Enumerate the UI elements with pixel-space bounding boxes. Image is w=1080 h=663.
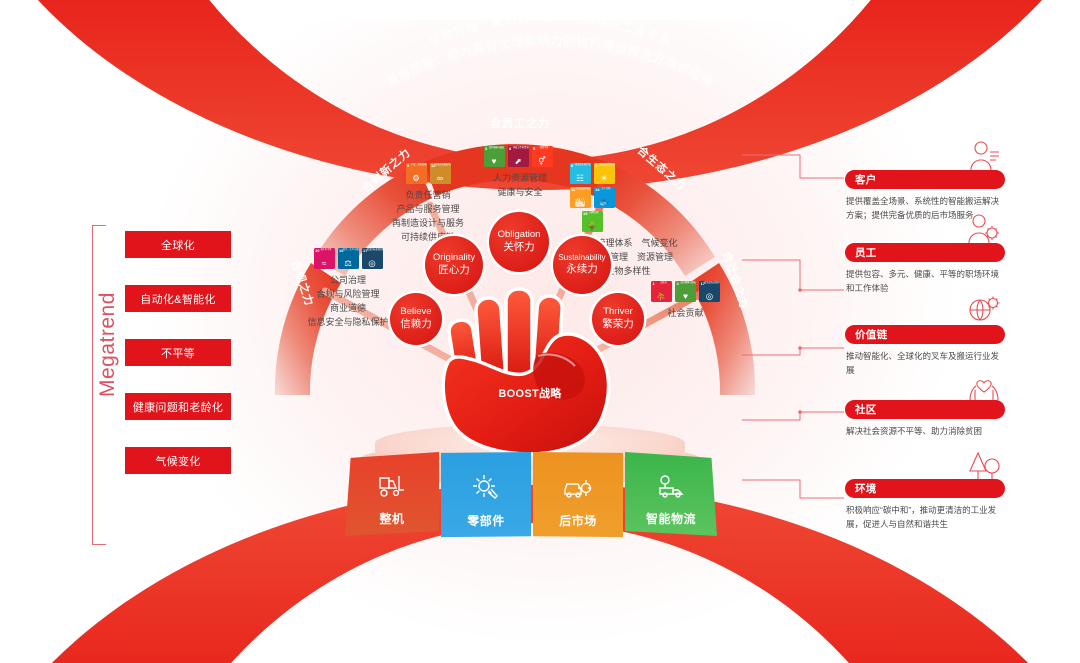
segment-label: 整机	[379, 510, 404, 527]
sdg-icon-9: 9产业、创新和基础设施⚙	[406, 163, 427, 184]
smart-truck-icon	[656, 474, 686, 502]
fist-icon	[430, 258, 630, 458]
segment-logistics[interactable]: 智能物流	[625, 452, 717, 536]
forklift-icon	[377, 474, 407, 502]
sdg-icon-5: 5性别平等⚥	[532, 146, 553, 167]
core-circle-en: Obligation	[498, 229, 541, 241]
sdg-row-society: 1无贫穷⛹3良好健康与福祉♥17促进目标实现的伙伴关系◎	[643, 281, 728, 302]
sdg-icon-6: 6清洁饮水和卫生设施☵	[570, 163, 591, 184]
arc-label-employee: 合员工之力	[490, 115, 550, 131]
sector-society: 1无贫穷⛹3良好健康与福祉♥17促进目标实现的伙伴关系◎ 社会贡献	[643, 281, 728, 321]
stakeholder-title[interactable]: 环境	[845, 479, 1005, 498]
segment-label: 零部件	[467, 512, 505, 529]
sector-line: 社会贡献	[643, 307, 728, 321]
infographic-canvas: 使命目标：聚合力，提升可持续的工业未来 发展愿景：成为具有全球影响力的物料搬运解…	[0, 0, 1080, 663]
segment-machine[interactable]: 整机	[345, 452, 439, 536]
sdg-icon-10: 10减少不平等≈	[314, 248, 335, 269]
mission-vision-block: 使命目标：聚合力，提升可持续的工业未来 发展愿景：成为具有全球影响力的物料搬运解…	[300, 35, 800, 145]
segment-label: 后市场	[559, 512, 597, 529]
stakeholder-body: 提供包容、多元、健康、平等的职场环境和工作体验	[845, 268, 1005, 296]
sdg-icon-8: 8体面工作和经济增长⬈	[508, 146, 529, 167]
stakeholder-connectors	[740, 150, 860, 550]
megatrend-item-climate-change[interactable]: 气候变化	[125, 447, 231, 474]
sdg-icon-1: 1无贫穷⛹	[651, 281, 672, 302]
sdg-icon-12: 12负责任消费和生产∞	[430, 163, 451, 184]
sector-line: 健康与安全	[458, 186, 582, 200]
segment-parts[interactable]: 零部件	[441, 452, 531, 538]
tree-leaf-icon	[967, 449, 1001, 481]
stakeholder-title[interactable]: 社区	[845, 400, 1005, 419]
sdg-icon-16: 16和平、正义与强大机构⚖	[338, 248, 359, 269]
stakeholder-body: 积极响应“碳中和”，推动更清洁的工业发展，促进人与自然和谐共生	[845, 504, 1005, 532]
business-segments: 整机 零部件 后市场	[345, 452, 717, 552]
sector-line: 产品与服务管理	[368, 203, 488, 217]
gear-wrench-icon	[472, 474, 500, 504]
megatrend-title: Megatrend	[96, 297, 120, 397]
stakeholder-title[interactable]: 客户	[845, 170, 1005, 189]
sector-employee: 3良好健康与福祉♥8体面工作和经济增长⬈5性别平等⚥ 人力资源管理 健康与安全	[458, 146, 582, 200]
segment-label: 智能物流	[646, 510, 696, 527]
car-service-icon	[563, 476, 593, 504]
sdg-icon-11: 11可持续城市和社区🏙	[570, 187, 591, 208]
customer-person-icon	[967, 140, 1001, 172]
segment-aftermarket[interactable]: 后市场	[533, 452, 623, 538]
stakeholder-title[interactable]: 价值链	[845, 325, 1005, 344]
sdg-icon-15: 15陆地生物🌳	[582, 211, 603, 232]
megatrend-item-inequality[interactable]: 不平等	[125, 339, 231, 366]
sdg-row-ecology: 6清洁饮水和卫生设施☵7经济适用的清洁能源☀11可持续城市和社区🏙14水下生物🐟…	[567, 163, 617, 232]
sdg-icon-7: 7经济适用的清洁能源☀	[594, 163, 615, 184]
sector-line: 人力资源管理	[458, 172, 582, 186]
sdg-row-employee: 3良好健康与福祉♥8体面工作和经济增长⬈5性别平等⚥	[458, 146, 578, 167]
sdg-icon-17: 17促进目标实现的伙伴关系◎	[362, 248, 383, 269]
stakeholder-environment: 环境 积极响应“碳中和”，推动更清洁的工业发展，促进人与自然和谐共生	[845, 479, 1005, 532]
stakeholder-employee: 员工 提供包容、多元、健康、平等的职场环境和工作体验	[845, 243, 1005, 296]
stakeholder-body: 解决社会资源不平等、助力消除贫困	[845, 425, 1005, 439]
boost-strategy-label: BOOST战略	[430, 385, 630, 401]
core-circle-cn: 关怀力	[503, 241, 535, 255]
sector-line: 再制造设计与服务	[368, 217, 488, 231]
sdg-icon-3: 3良好健康与福祉♥	[675, 281, 696, 302]
sdg-icon-3: 3良好健康与福祉♥	[484, 146, 505, 167]
stakeholder-community: 社区 解决社会资源不平等、助力消除贫困	[845, 400, 1005, 439]
megatrend-item-automation[interactable]: 自动化&智能化	[125, 285, 231, 312]
megatrend-item-health-aging[interactable]: 健康问题和老龄化	[125, 393, 231, 420]
sdg-icon-17: 17促进目标实现的伙伴关系◎	[699, 281, 720, 302]
megatrend-item-globalization[interactable]: 全球化	[125, 231, 231, 258]
core-circle-cn: 信赖力	[400, 318, 432, 332]
hands-heart-icon	[967, 370, 1001, 402]
employee-gear-icon	[967, 213, 1001, 245]
globe-gear-icon	[967, 295, 1001, 327]
core-circle-en: Believe	[400, 306, 431, 318]
stakeholder-title[interactable]: 员工	[845, 243, 1005, 262]
sdg-icon-14: 14水下生物🐟	[594, 187, 615, 208]
